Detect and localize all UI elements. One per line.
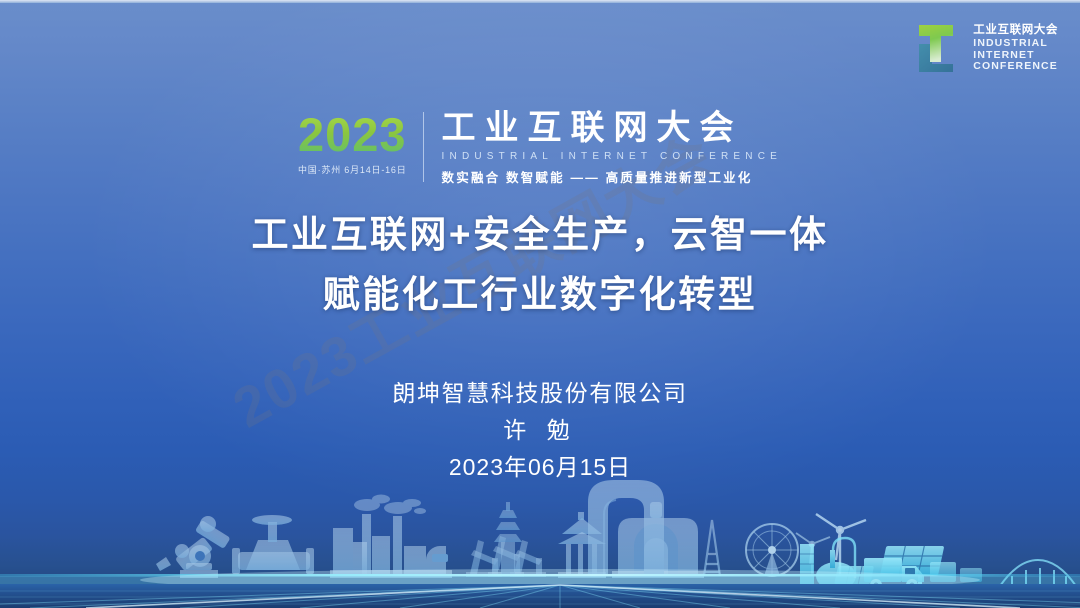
slide-title-line-1: 工业互联网+安全生产，云智一体: [0, 205, 1080, 265]
event-name-cn: 工业互联网大会: [442, 111, 782, 147]
event-place-and-date: 中国·苏州 6月14日-16日: [298, 163, 407, 176]
presenter-name: 许 勉: [0, 412, 1080, 449]
conference-logo: 工业互联网大会 INDUSTRIAL INTERNET CONFERENCE: [910, 22, 1058, 74]
event-name-en: INDUSTRIAL INTERNET CONFERENCE: [442, 151, 782, 162]
event-lockup-right: 工业互联网大会 INDUSTRIAL INTERNET CONFERENCE 数…: [442, 110, 782, 186]
presenter-block: 朗坤智慧科技股份有限公司 许 勉 2023年06月15日: [0, 376, 1080, 486]
robot-arm-icon: [156, 516, 231, 578]
slide-top-edge: [0, 0, 1080, 3]
slide-title-block: 工业互联网+安全生产，云智一体 赋能化工行业数字化转型: [0, 205, 1080, 325]
logo-title-cn: 工业互联网大会: [973, 24, 1058, 36]
presentation-date: 2023年06月15日: [0, 449, 1080, 486]
event-lockup: 2023 中国·苏州 6月14日-16日 工业互联网大会 INDUSTRIAL …: [0, 110, 1080, 186]
presenter-organization: 朗坤智慧科技股份有限公司: [0, 376, 1080, 412]
event-slogan: 数实融合 数智赋能 —— 高质量推进新型工业化: [442, 167, 782, 186]
lockup-divider: [423, 112, 424, 182]
slide-title-line-2: 赋能化工行业数字化转型: [0, 265, 1080, 325]
factory-with-smokestacks-icon: [330, 495, 452, 579]
event-year: 2023: [298, 112, 407, 158]
conference-logo-text: 工业互联网大会 INDUSTRIAL INTERNET CONFERENCE: [973, 24, 1058, 72]
industrial-valve-icon: [232, 515, 314, 574]
presentation-slide: 工业互联网大会 INDUSTRIAL INTERNET CONFERENCE 2…: [0, 0, 1080, 608]
industrial-internet-conference-t-logo-icon: [910, 22, 962, 74]
logo-title-en-conference: CONFERENCE: [973, 61, 1058, 72]
logo-title-en-industrial: INDUSTRIAL: [973, 38, 1058, 49]
ferris-wheel-icon: [746, 524, 798, 576]
event-lockup-left: 2023 中国·苏州 6月14日-16日: [298, 110, 423, 186]
lattice-tower-icon: [704, 508, 720, 576]
event-lockup-inner: 2023 中国·苏州 6月14日-16日 工业互联网大会 INDUSTRIAL …: [298, 110, 782, 186]
